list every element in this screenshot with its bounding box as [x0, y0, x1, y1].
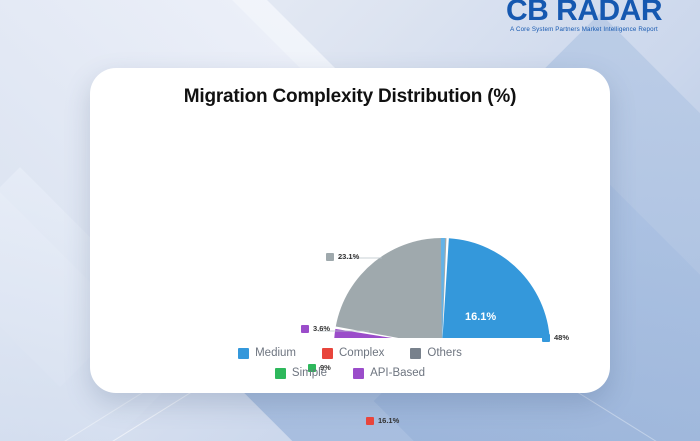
legend-row-secondary: SimpleAPI-Based [90, 367, 610, 379]
legend-item-medium[interactable]: Medium [238, 347, 296, 359]
legend-item-api-based[interactable]: API-Based [353, 367, 425, 379]
legend-swatch [410, 348, 421, 359]
legend-label: Medium [255, 347, 296, 359]
api-based-callout: 3.6% [301, 324, 330, 333]
complex-callout-label: 16.1% [378, 416, 399, 425]
legend-label: Simple [292, 367, 327, 379]
legend-row-primary: MediumComplexOthers [90, 347, 610, 359]
medium-upper-label: 16.1% [465, 311, 496, 323]
legend-swatch [275, 368, 286, 379]
chart-legend: MediumComplexOthers SimpleAPI-Based [90, 339, 610, 379]
legend-item-others[interactable]: Others [410, 347, 462, 359]
legend-label: API-Based [370, 367, 425, 379]
pie-chart-plot-area: 23.1% 3.6% 9% 16.1% 48% 16.1% 48.1% [90, 108, 610, 338]
page-title: Migration Complexity Distribution (%) [90, 86, 610, 108]
complex-callout: 16.1% [366, 416, 399, 425]
legend-label: Complex [339, 347, 384, 359]
pie-chart-svg [90, 108, 610, 338]
api-based-callout-swatch [301, 325, 309, 333]
chart-card: Migration Complexity Distribution (%) 23… [90, 68, 610, 393]
legend-swatch [353, 368, 364, 379]
logo-tagline: A Core System Partners Market Intelligen… [506, 27, 662, 33]
pie-slices [334, 238, 550, 338]
legend-swatch [238, 348, 249, 359]
complex-callout-swatch [366, 417, 374, 425]
others-callout-swatch [326, 253, 334, 261]
pie-slice-medium[interactable] [442, 238, 550, 338]
legend-item-complex[interactable]: Complex [322, 347, 384, 359]
legend-label: Others [427, 347, 462, 359]
api-based-callout-label: 3.6% [313, 324, 330, 333]
cb-radar-logo: CB RADAR A Core System Partners Market I… [506, 0, 662, 33]
legend-item-simple[interactable]: Simple [275, 367, 327, 379]
legend-swatch [322, 348, 333, 359]
logo-wordmark: CB RADAR [506, 0, 662, 26]
others-callout-label: 23.1% [338, 252, 359, 261]
others-callout: 23.1% [326, 252, 359, 261]
